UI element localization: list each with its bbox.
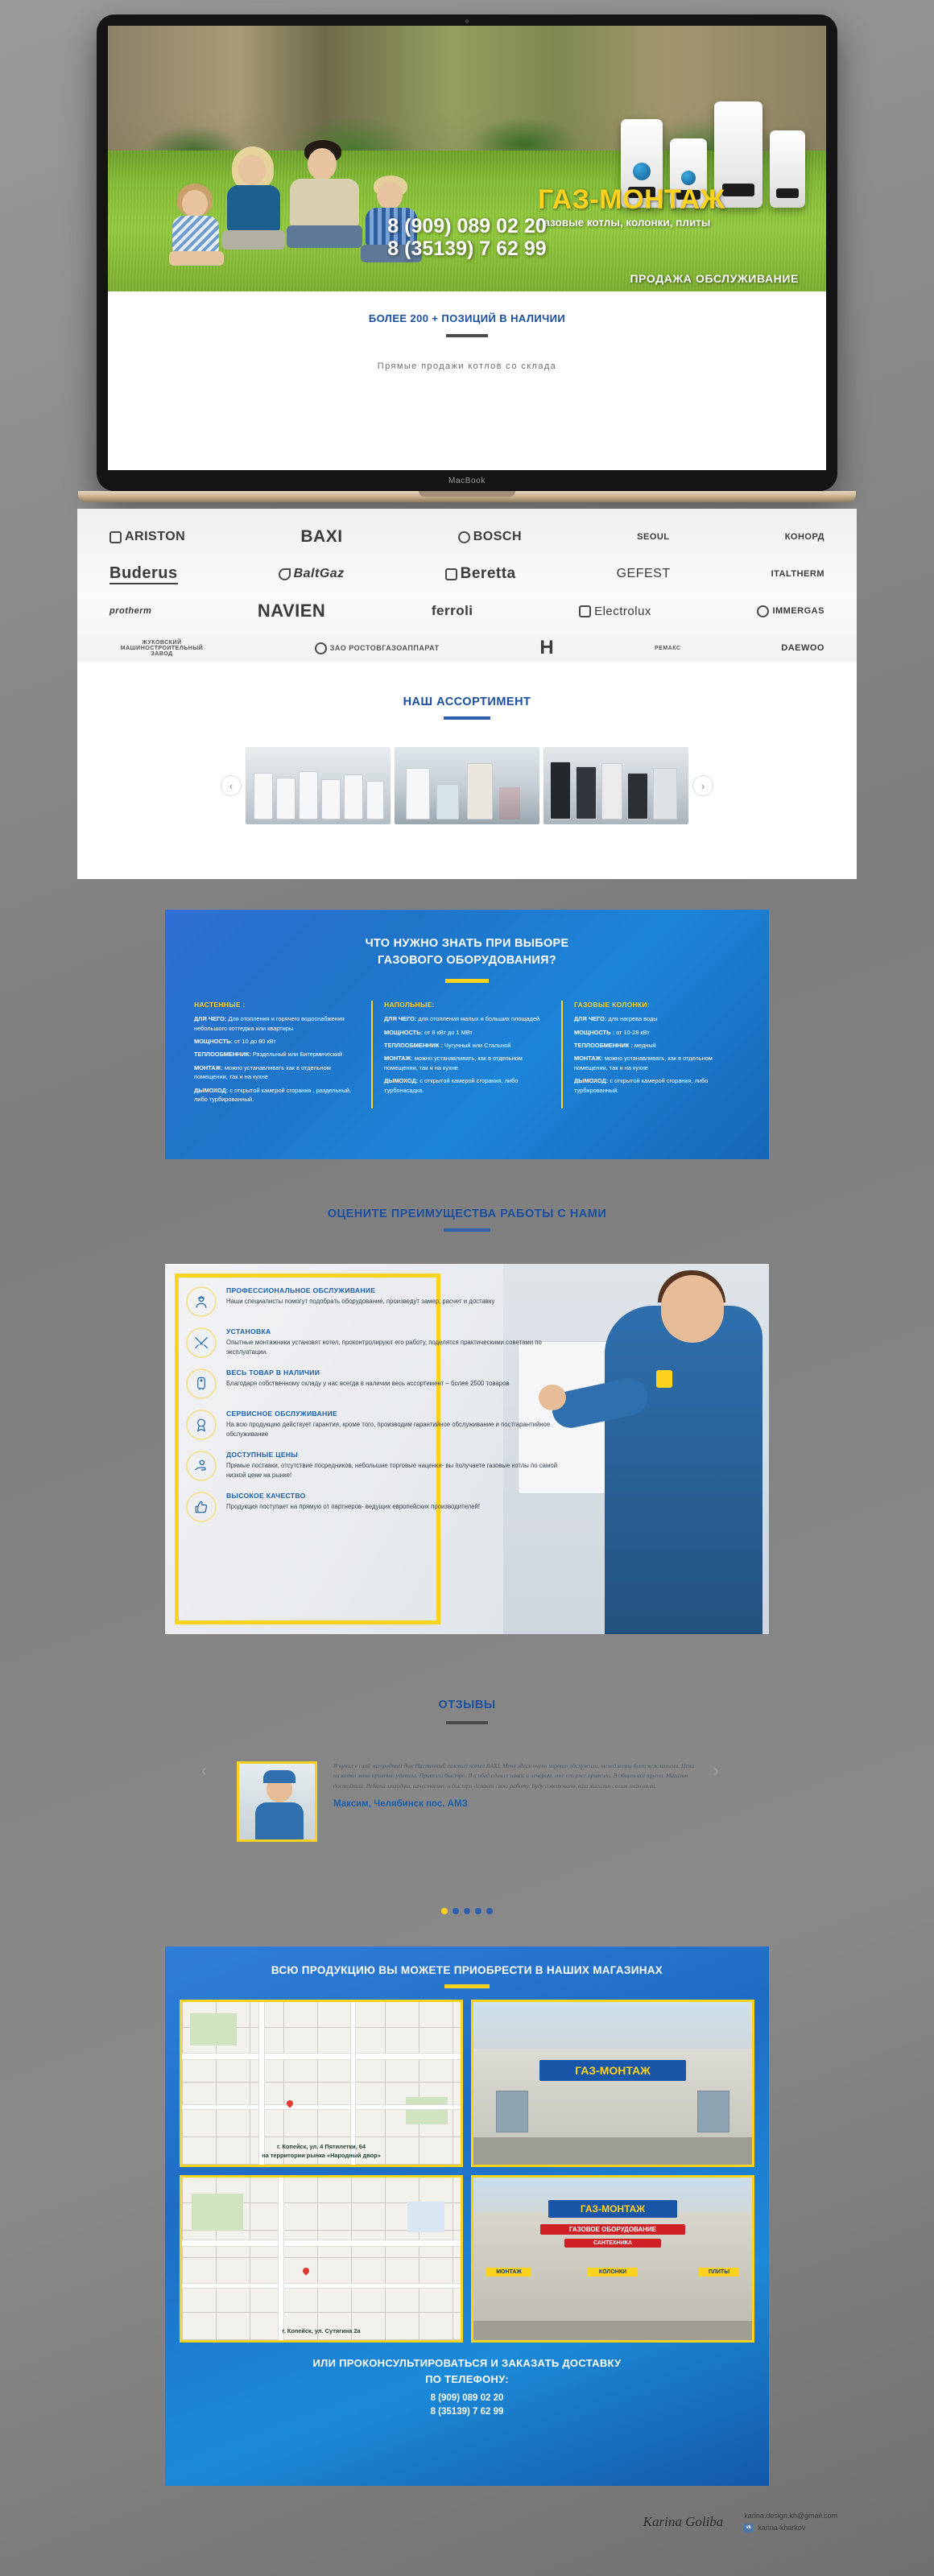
designer-signature: Karina Goliba karina.design.kh@gmail.com… bbox=[0, 2510, 934, 2535]
stores-phone-2[interactable]: 8 (35139) 7 62 99 bbox=[431, 2407, 504, 2417]
guide-row: ТЕПЛООБМЕННИК : медный bbox=[574, 1041, 740, 1050]
ariston-mark-icon bbox=[110, 531, 122, 543]
assortment-section: НАШ АССОРТИМЕНТ ‹ bbox=[77, 662, 857, 879]
brand-logo-beretta: Beretta bbox=[445, 565, 516, 583]
store-map-1[interactable]: г. Копейск, ул. 4 Пятилетки, 64 на терри… bbox=[180, 2000, 463, 2167]
award-icon bbox=[186, 1410, 217, 1440]
brand-logo-ariston: ARISTON bbox=[110, 530, 185, 544]
store-map-2[interactable]: г. Копейск, ул. Сутягина 2а bbox=[180, 2175, 463, 2343]
brand-logo-daewoo: DAEWOO bbox=[781, 643, 824, 653]
guide-row: ТЕПЛООБМЕННИК : Чугунный или Стальной bbox=[384, 1041, 550, 1050]
advantage-item: УСТАНОВКА Опытные монтажники установят к… bbox=[186, 1327, 564, 1358]
store-2-red-subsign: САНТЕХНИКА bbox=[564, 2239, 661, 2248]
stores-title: ВСЮ ПРОДУКЦИЮ ВЫ МОЖЕТЕ ПРИОБРЕСТИ В НАШ… bbox=[165, 1946, 769, 1976]
vk-icon: vk bbox=[744, 2524, 753, 2533]
laptop-notch bbox=[419, 491, 515, 497]
tools-icon bbox=[186, 1327, 217, 1358]
guide-title: ЧТО НУЖНО ЗНАТЬ ПРИ ВЫБОРЕ ГАЗОВОГО ОБОР… bbox=[165, 910, 769, 969]
advantage-text: ВЫСОКОЕ КАЧЕСТВО Продукция поступает на … bbox=[226, 1492, 480, 1512]
review-next-button[interactable]: › bbox=[713, 1761, 733, 1781]
guide-section: ЧТО НУЖНО ЗНАТЬ ПРИ ВЫБОРЕ ГАЗОВОГО ОБОР… bbox=[165, 910, 769, 1159]
availability-title: БОЛЕЕ 200 + ПОЗИЦИЙ В НАЛИЧИИ bbox=[108, 312, 826, 324]
avatar-cap bbox=[263, 1770, 295, 1783]
designer-contacts: karina.design.kh@gmail.com vk karina-kha… bbox=[744, 2510, 837, 2535]
electrolux-mark-icon bbox=[579, 605, 591, 617]
guide-row: ДЛЯ ЧЕГО: для нагрева воды bbox=[574, 1014, 740, 1023]
review-prev-button[interactable]: ‹ bbox=[201, 1761, 221, 1781]
hero-phone-block: 8 (909) 089 02 20 8 (35139) 7 62 99 bbox=[108, 215, 826, 262]
presentation-page: ГАЗ-МОНТАЖ Газовые котлы, колонки, плиты… bbox=[0, 0, 934, 2576]
store-2-sign: ГАЗ-МОНТАЖ bbox=[548, 2200, 677, 2218]
store-2-red-sign: ГАЗОВОЕ ОБОРУДОВАНИЕ bbox=[540, 2224, 685, 2235]
flame-icon bbox=[279, 568, 291, 580]
brand-logo-buderus: Buderus bbox=[110, 564, 178, 584]
guide-row: МОЩНОСТЬ: от 8 кВт до 1 МВт bbox=[384, 1028, 550, 1037]
advantages-header: ОЦЕНИТЕ ПРЕИМУЩЕСТВА РАБОТЫ С НАМИ bbox=[0, 1207, 934, 1232]
guide-column-heading: НАСТЕННЫЕ : bbox=[194, 1001, 360, 1009]
brand-logo-navien: NAVIEN bbox=[258, 601, 326, 621]
hero-sales-label: ПРОДАЖА ОБСЛУЖИВАНИЕ bbox=[630, 272, 799, 285]
laptop-screen: ГАЗ-МОНТАЖ Газовые котлы, колонки, плиты… bbox=[108, 26, 826, 470]
advantage-heading: ДОСТУПНЫЕ ЦЕНЫ bbox=[226, 1451, 564, 1459]
gallery-slide[interactable] bbox=[395, 747, 539, 824]
hero-photo: ГАЗ-МОНТАЖ Газовые котлы, колонки, плиты… bbox=[108, 26, 826, 291]
advantage-item: ДОСТУПНЫЕ ЦЕНЫ Прямые поставки, отсутств… bbox=[186, 1451, 564, 1481]
brands-rows: ARISTON BAXI BOSCH SEOUL КОНОРД Buderus … bbox=[77, 509, 857, 667]
guide-title-line2: ГАЗОВОГО ОБОРУДОВАНИЯ? bbox=[378, 954, 556, 967]
stores-footer-phones: 8 (909) 089 02 20 8 (35139) 7 62 99 bbox=[165, 2392, 769, 2418]
guide-row: МОЩНОСТЬ: от 10 до 80 кВт bbox=[194, 1037, 360, 1046]
designer-name: Karina Goliba bbox=[643, 2514, 724, 2530]
brand-row: protherm NAVIEN ferroli Electrolux IMMER… bbox=[110, 592, 824, 630]
immergas-mark-icon bbox=[757, 605, 769, 617]
review-avatar bbox=[237, 1761, 317, 1842]
advantage-heading: УСТАНОВКА bbox=[226, 1327, 564, 1335]
advantage-body: Опытные монтажники установят котел, прок… bbox=[226, 1338, 564, 1356]
divider-rule bbox=[444, 1228, 490, 1232]
guide-row: МОЩНОСТЬ : от 10-28 кВт bbox=[574, 1028, 740, 1037]
brand-logo-zhukovsky: ЖУКОВСКИЙ МАШИНОСТРОИТЕЛЬНЫЙ ЗАВОД bbox=[110, 640, 214, 657]
advantages-section: ПРОФЕССИОНАЛЬНОЕ ОБСЛУЖИВАНИЕ Наши специ… bbox=[165, 1264, 769, 1634]
review-dot[interactable] bbox=[475, 1908, 481, 1914]
brand-logo-gefest: GEFEST bbox=[617, 567, 671, 581]
brand-logo-italtherm: ITALTHERM bbox=[771, 569, 824, 579]
guide-row: ДЛЯ ЧЕГО: Для отопления и горячего водос… bbox=[194, 1014, 360, 1033]
designer-email[interactable]: karina.design.kh@gmail.com bbox=[744, 2510, 837, 2522]
map-pin-icon bbox=[301, 2266, 310, 2275]
guide-columns: НАСТЕННЫЕ : ДЛЯ ЧЕГО: Для отопления и го… bbox=[165, 983, 769, 1108]
store-1-sign: ГАЗ-МОНТАЖ bbox=[539, 2060, 686, 2081]
advantage-body: Прямые поставки, отсутствие посредников,… bbox=[226, 1461, 564, 1480]
worker-body bbox=[605, 1306, 762, 1634]
guide-row: МОНТАЖ: можно устанавливать, как в отдел… bbox=[574, 1054, 740, 1072]
advantages-list: ПРОФЕССИОНАЛЬНОЕ ОБСЛУЖИВАНИЕ Наши специ… bbox=[186, 1286, 564, 1533]
laptop-body: ГАЗ-МОНТАЖ Газовые котлы, колонки, плиты… bbox=[97, 14, 837, 491]
guide-row: ДЛЯ ЧЕГО: для отопления малых и больших … bbox=[384, 1014, 550, 1023]
advantage-heading: ВЫСОКОЕ КАЧЕСТВО bbox=[226, 1492, 480, 1500]
worker-head bbox=[661, 1275, 724, 1343]
advantage-text: УСТАНОВКА Опытные монтажники установят к… bbox=[226, 1327, 564, 1356]
stores-footer: ИЛИ ПРОКОНСУЛЬТИРОВАТЬСЯ И ЗАКАЗАТЬ ДОСТ… bbox=[165, 2343, 769, 2418]
guide-column-wall: НАСТЕННЫЕ : ДЛЯ ЧЕГО: Для отопления и го… bbox=[183, 1001, 371, 1108]
advantage-item: СЕРВИСНОЕ ОБСЛУЖИВАНИЕ На всю продукцию … bbox=[186, 1410, 564, 1440]
assortment-title: НАШ АССОРТИМЕНТ bbox=[77, 696, 857, 708]
guide-row: ДЫМОХОД: с открытой камерой сгорания, ли… bbox=[384, 1076, 550, 1095]
brand-logo-immergas: IMMERGAS bbox=[757, 605, 824, 617]
review-dot[interactable] bbox=[453, 1908, 459, 1914]
guide-column-heading: НАПОЛЬНЫЕ: bbox=[384, 1001, 550, 1009]
advantage-item: ПРОФЕССИОНАЛЬНОЕ ОБСЛУЖИВАНИЕ Наши специ… bbox=[186, 1286, 564, 1317]
divider-rule bbox=[446, 334, 488, 337]
guide-title-line1: ЧТО НУЖНО ЗНАТЬ ПРИ ВЫБОРЕ bbox=[365, 937, 568, 950]
brand-logo-n: Н bbox=[539, 637, 554, 659]
brand-logo-bosch: BOSCH bbox=[458, 530, 522, 544]
advantage-text: ВЕСЬ ТОВАР В НАЛИЧИИ Благодаря собственн… bbox=[226, 1368, 510, 1389]
reviews-header: ОТЗЫВЫ bbox=[0, 1699, 934, 1724]
review-dot[interactable] bbox=[464, 1908, 470, 1914]
store-map-1-caption: г. Копейск, ул. 4 Пятилетки, 64 на терри… bbox=[182, 2143, 461, 2160]
beretta-mark-icon bbox=[445, 568, 457, 580]
guide-row: ДЫМОХОД: с открытой камерой сгорания, ли… bbox=[574, 1076, 740, 1095]
review-dot-active[interactable] bbox=[441, 1908, 448, 1914]
designer-vk-row[interactable]: vk karina-kharkov bbox=[744, 2522, 837, 2534]
boiler-icon bbox=[186, 1368, 217, 1399]
hero-banner: ГАЗ-МОНТАЖ Газовые котлы, колонки, плиты… bbox=[108, 26, 826, 291]
store-2-tag-left: МОНТАЖ bbox=[486, 2268, 531, 2277]
stores-grid: г. Копейск, ул. 4 Пятилетки, 64 на терри… bbox=[165, 1988, 769, 2343]
divider-rule bbox=[444, 716, 490, 720]
advantage-item: ВЕСЬ ТОВАР В НАЛИЧИИ Благодаря собственн… bbox=[186, 1368, 564, 1399]
gallery-slide[interactable] bbox=[543, 747, 688, 824]
hand-coin-icon bbox=[186, 1451, 217, 1481]
brand-logo-baltgaz: BaltGaz bbox=[279, 567, 345, 581]
store-photo-1: ГАЗ-МОНТАЖ bbox=[471, 2000, 754, 2167]
guide-column-heading: ГАЗОВЫЕ КОЛОНКИ: bbox=[574, 1001, 740, 1009]
availability-strip: БОЛЕЕ 200 + ПОЗИЦИЙ В НАЛИЧИИ Прямые про… bbox=[108, 291, 826, 470]
review-dot[interactable] bbox=[486, 1908, 493, 1914]
advantage-item: ВЫСОКОЕ КАЧЕСТВО Продукция поступает на … bbox=[186, 1492, 564, 1522]
store-2-tag-right: ПЛИТЫ bbox=[699, 2268, 739, 2277]
webcam-icon bbox=[465, 19, 469, 23]
advantage-body: Наши специалисты помогут подобрать обору… bbox=[226, 1297, 494, 1307]
stores-section: ВСЮ ПРОДУКЦИЮ ВЫ МОЖЕТЕ ПРИОБРЕСТИ В НАШ… bbox=[165, 1946, 769, 2486]
review-body: Я купил в свой загородный дом Настенный … bbox=[333, 1761, 697, 1791]
worker-icon bbox=[186, 1286, 217, 1317]
advantages-title: ОЦЕНИТЕ ПРЕИМУЩЕСТВА РАБОТЫ С НАМИ bbox=[0, 1207, 934, 1220]
advantage-text: СЕРВИСНОЕ ОБСЛУЖИВАНИЕ На всю продукцию … bbox=[226, 1410, 564, 1439]
brand-logo-ferroli: ferroli bbox=[432, 603, 473, 619]
advantage-body: На всю продукцию действует гарантия, кро… bbox=[226, 1420, 564, 1439]
availability-subtitle: Прямые продажи котлов со склада bbox=[108, 361, 826, 371]
avatar-body bbox=[255, 1802, 304, 1842]
advantage-text: ПРОФЕССИОНАЛЬНОЕ ОБСЛУЖИВАНИЕ Наши специ… bbox=[226, 1286, 494, 1307]
assortment-inner: НАШ АССОРТИМЕНТ ‹ bbox=[77, 662, 857, 824]
review-author: Максим, Челябинск пос. АМЗ bbox=[333, 1799, 697, 1809]
brand-logo-remaks: РЕМАКС bbox=[655, 646, 680, 651]
gallery-slide[interactable] bbox=[246, 747, 391, 824]
brands-section: ARISTON BAXI BOSCH SEOUL КОНОРД Buderus … bbox=[77, 509, 857, 662]
stores-footer-line1: ИЛИ ПРОКОНСУЛЬТИРОВАТЬСЯ И ЗАКАЗАТЬ ДОСТ… bbox=[165, 2355, 769, 2387]
guide-row: ДЫМОХОД: с открытой камерой сгорания , р… bbox=[194, 1086, 360, 1104]
guide-row: МОНТАЖ: можно устанавливать, как в отдел… bbox=[384, 1054, 550, 1072]
designer-email-row[interactable]: karina.design.kh@gmail.com bbox=[744, 2510, 837, 2522]
advantage-heading: СЕРВИСНОЕ ОБСЛУЖИВАНИЕ bbox=[226, 1410, 564, 1418]
laptop-base bbox=[78, 491, 856, 502]
store-map-2-caption: г. Копейск, ул. Сутягина 2а bbox=[182, 2327, 461, 2335]
review-card: ‹ Я купил в свой загородный дом Настенны… bbox=[201, 1761, 733, 1882]
brand-logo-baxi: BAXI bbox=[300, 527, 342, 547]
review-pagination bbox=[0, 1908, 934, 1914]
designer-vk[interactable]: karina-kharkov bbox=[758, 2522, 805, 2534]
brand-logo-electrolux: Electrolux bbox=[579, 605, 651, 618]
rga-mark-icon bbox=[315, 642, 327, 654]
brand-title: ГАЗ-МОНТАЖ bbox=[538, 186, 804, 215]
laptop-model-label: MacBook bbox=[448, 477, 486, 485]
guide-row: МОНТАЖ: можно устанавливать как в отдель… bbox=[194, 1063, 360, 1082]
gallery-next-button[interactable]: › bbox=[692, 775, 713, 796]
brand-logo-seoul: SEOUL bbox=[637, 532, 669, 542]
advantage-heading: ВЕСЬ ТОВАР В НАЛИЧИИ bbox=[226, 1368, 510, 1377]
reviews-title: ОТЗЫВЫ bbox=[0, 1699, 934, 1711]
bosch-mark-icon bbox=[458, 531, 470, 543]
hero-phone-primary[interactable]: 8 (909) 089 02 20 bbox=[108, 215, 826, 238]
stores-phone-1[interactable]: 8 (909) 089 02 20 bbox=[431, 2393, 504, 2403]
review-text-block: Я купил в свой загородный дом Настенный … bbox=[333, 1761, 697, 1882]
guide-column-floor: НАПОЛЬНЫЕ: ДЛЯ ЧЕГО: для отопления малых… bbox=[371, 1001, 561, 1108]
advantage-text: ДОСТУПНЫЕ ЦЕНЫ Прямые поставки, отсутств… bbox=[226, 1451, 564, 1480]
advantage-body: Благодаря собственному складу у нас всег… bbox=[226, 1379, 510, 1389]
divider-rule bbox=[446, 1721, 488, 1724]
worker-badge-icon bbox=[656, 1370, 672, 1388]
thumbs-up-icon bbox=[186, 1492, 217, 1522]
gallery-prev-button[interactable]: ‹ bbox=[221, 775, 242, 796]
advantage-heading: ПРОФЕССИОНАЛЬНОЕ ОБСЛУЖИВАНИЕ bbox=[226, 1286, 494, 1294]
store-photo-2: ГАЗ-МОНТАЖ ГАЗОВОЕ ОБОРУДОВАНИЕ САНТЕХНИ… bbox=[471, 2175, 754, 2343]
brand-logo-konord: КОНОРД bbox=[785, 532, 824, 542]
store-2-tag-mid: КОЛОНКИ bbox=[588, 2268, 638, 2277]
brand-row: ARISTON BAXI BOSCH SEOUL КОНОРД bbox=[110, 518, 824, 555]
brand-logo-rostovgazapparat: ЗАО РОСТОВГАЗОАППАРАТ bbox=[315, 642, 440, 654]
laptop-chin: MacBook bbox=[108, 470, 826, 491]
brand-row: Buderus BaltGaz Beretta GEFEST ITALTHERM bbox=[110, 555, 824, 592]
hero-phone-secondary[interactable]: 8 (35139) 7 62 99 bbox=[108, 237, 826, 261]
guide-column-waterheater: ГАЗОВЫЕ КОЛОНКИ: ДЛЯ ЧЕГО: для нагрева в… bbox=[561, 1001, 751, 1108]
brand-logo-protherm: protherm bbox=[110, 606, 151, 616]
advantage-body: Продукция поступает на прямую от партнер… bbox=[226, 1502, 480, 1512]
guide-row: ТЕПЛООБМЕННИК: Раздельный или Битермичес… bbox=[194, 1050, 360, 1059]
laptop-mockup: ГАЗ-МОНТАЖ Газовые котлы, колонки, плиты… bbox=[97, 14, 837, 502]
assortment-gallery: ‹ bbox=[77, 747, 857, 824]
